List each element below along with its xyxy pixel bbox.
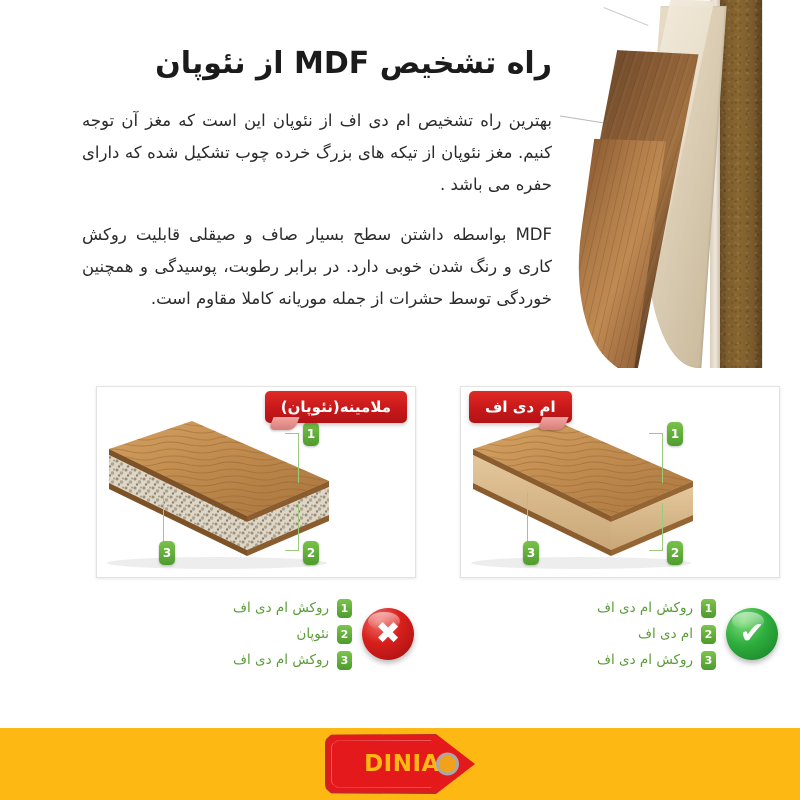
- verdict-row-left: ✖ 1 روکش ام دی اف 2 نئوپان 3 روکش ام دی …: [96, 582, 414, 686]
- veneer-hairline: [560, 114, 604, 124]
- price-tag-icon: DINIAL: [325, 734, 475, 794]
- legend-item: 3 روکش ام دی اف: [106, 651, 352, 670]
- veneer-hairline-top: [604, 7, 649, 26]
- legend-label-2-right: ام دی اف: [638, 626, 693, 642]
- legend-label-1-right: روکش ام دی اف: [597, 600, 693, 616]
- mdf-board-photo: [560, 0, 800, 368]
- legend-item: 1 روکش ام دی اف: [106, 599, 352, 618]
- legend-badge-1-left: 1: [337, 599, 352, 618]
- comparison-section: ملامینه(نئوپان): [0, 368, 800, 700]
- paragraph-2: MDF بواسطه داشتن سطح بسیار صاف و صیقلی ق…: [82, 219, 552, 316]
- callout-badge-3-left: 3: [159, 541, 175, 565]
- page-title: راه تشخیص MDF از نئوپان: [82, 44, 552, 85]
- callout-badge-1-left: 1: [303, 422, 319, 446]
- ribbon-label-left: ملامینه(نئوپان): [265, 391, 407, 423]
- x-mark-glyph: ✖: [362, 608, 414, 660]
- legend-item: 1 روکش ام دی اف: [470, 599, 716, 618]
- leader-elbow-2-right: [649, 550, 663, 552]
- legend-label-3-right: روکش ام دی اف: [597, 652, 693, 668]
- panel-card-left: ملامینه(نئوپان): [96, 386, 416, 578]
- legend-item: 3 روکش ام دی اف: [470, 651, 716, 670]
- panel-mdf: ام دی اف: [452, 368, 792, 700]
- leader-elbow-1-left: [285, 433, 299, 435]
- tag-grommet-icon: [436, 753, 459, 776]
- ribbon-label-right: ام دی اف: [469, 391, 572, 423]
- legend-badge-2-left: 2: [337, 625, 352, 644]
- callout-badge-3-right: 3: [523, 541, 539, 565]
- panel-card-right: ام دی اف: [460, 386, 780, 578]
- legend-label-2-left: نئوپان: [296, 626, 329, 642]
- legend-label-1-left: روکش ام دی اف: [233, 600, 329, 616]
- callout-badge-1-right: 1: [667, 422, 683, 446]
- legend-badge-3-left: 3: [337, 651, 352, 670]
- brand-logo[interactable]: DINIAL: [325, 736, 475, 792]
- callout-badge-2-left: 2: [303, 541, 319, 565]
- article-copy: راه تشخیص MDF از نئوپان بهترین راه تشخیص…: [82, 44, 552, 316]
- footer-bar: DINIAL: [0, 728, 800, 800]
- legend-badge-2-right: 2: [701, 625, 716, 644]
- check-mark-icon: ✔: [726, 608, 778, 660]
- ribbon-text-left: ملامینه(نئوپان): [281, 398, 391, 416]
- infographic-page: راه تشخیص MDF از نئوپان بهترین راه تشخیص…: [0, 0, 800, 800]
- legend-badge-1-right: 1: [701, 599, 716, 618]
- leader-line-2-left: [297, 503, 299, 551]
- leader-elbow-1-right: [649, 433, 663, 435]
- legend-right: 1 روکش ام دی اف 2 ام دی اف 3 روکش ام دی …: [460, 599, 726, 670]
- x-mark-icon: ✖: [362, 608, 414, 660]
- leader-elbow-2-left: [285, 550, 299, 552]
- legend-badge-3-right: 3: [701, 651, 716, 670]
- ribbon-text-right: ام دی اف: [485, 398, 556, 416]
- paragraph-1: بهترین راه تشخیص ام دی اف از نئوپان این …: [82, 105, 552, 202]
- callout-badge-2-right: 2: [667, 541, 683, 565]
- leader-line-1-right: [661, 433, 663, 483]
- leader-line-2-right: [661, 503, 663, 551]
- mdf-core-slab: [718, 0, 762, 368]
- panel-melamine-neopan: ملامینه(نئوپان): [88, 368, 428, 700]
- legend-item: 2 نئوپان: [106, 625, 352, 644]
- leader-line-1-left: [297, 433, 299, 483]
- legend-left: 1 روکش ام دی اف 2 نئوپان 3 روکش ام دی اف: [96, 599, 362, 670]
- check-mark-glyph: ✔: [726, 608, 778, 660]
- verdict-row-right: ✔ 1 روکش ام دی اف 2 ام دی اف 3 روکش ام د…: [460, 582, 778, 686]
- legend-item: 2 ام دی اف: [470, 625, 716, 644]
- legend-label-3-left: روکش ام دی اف: [233, 652, 329, 668]
